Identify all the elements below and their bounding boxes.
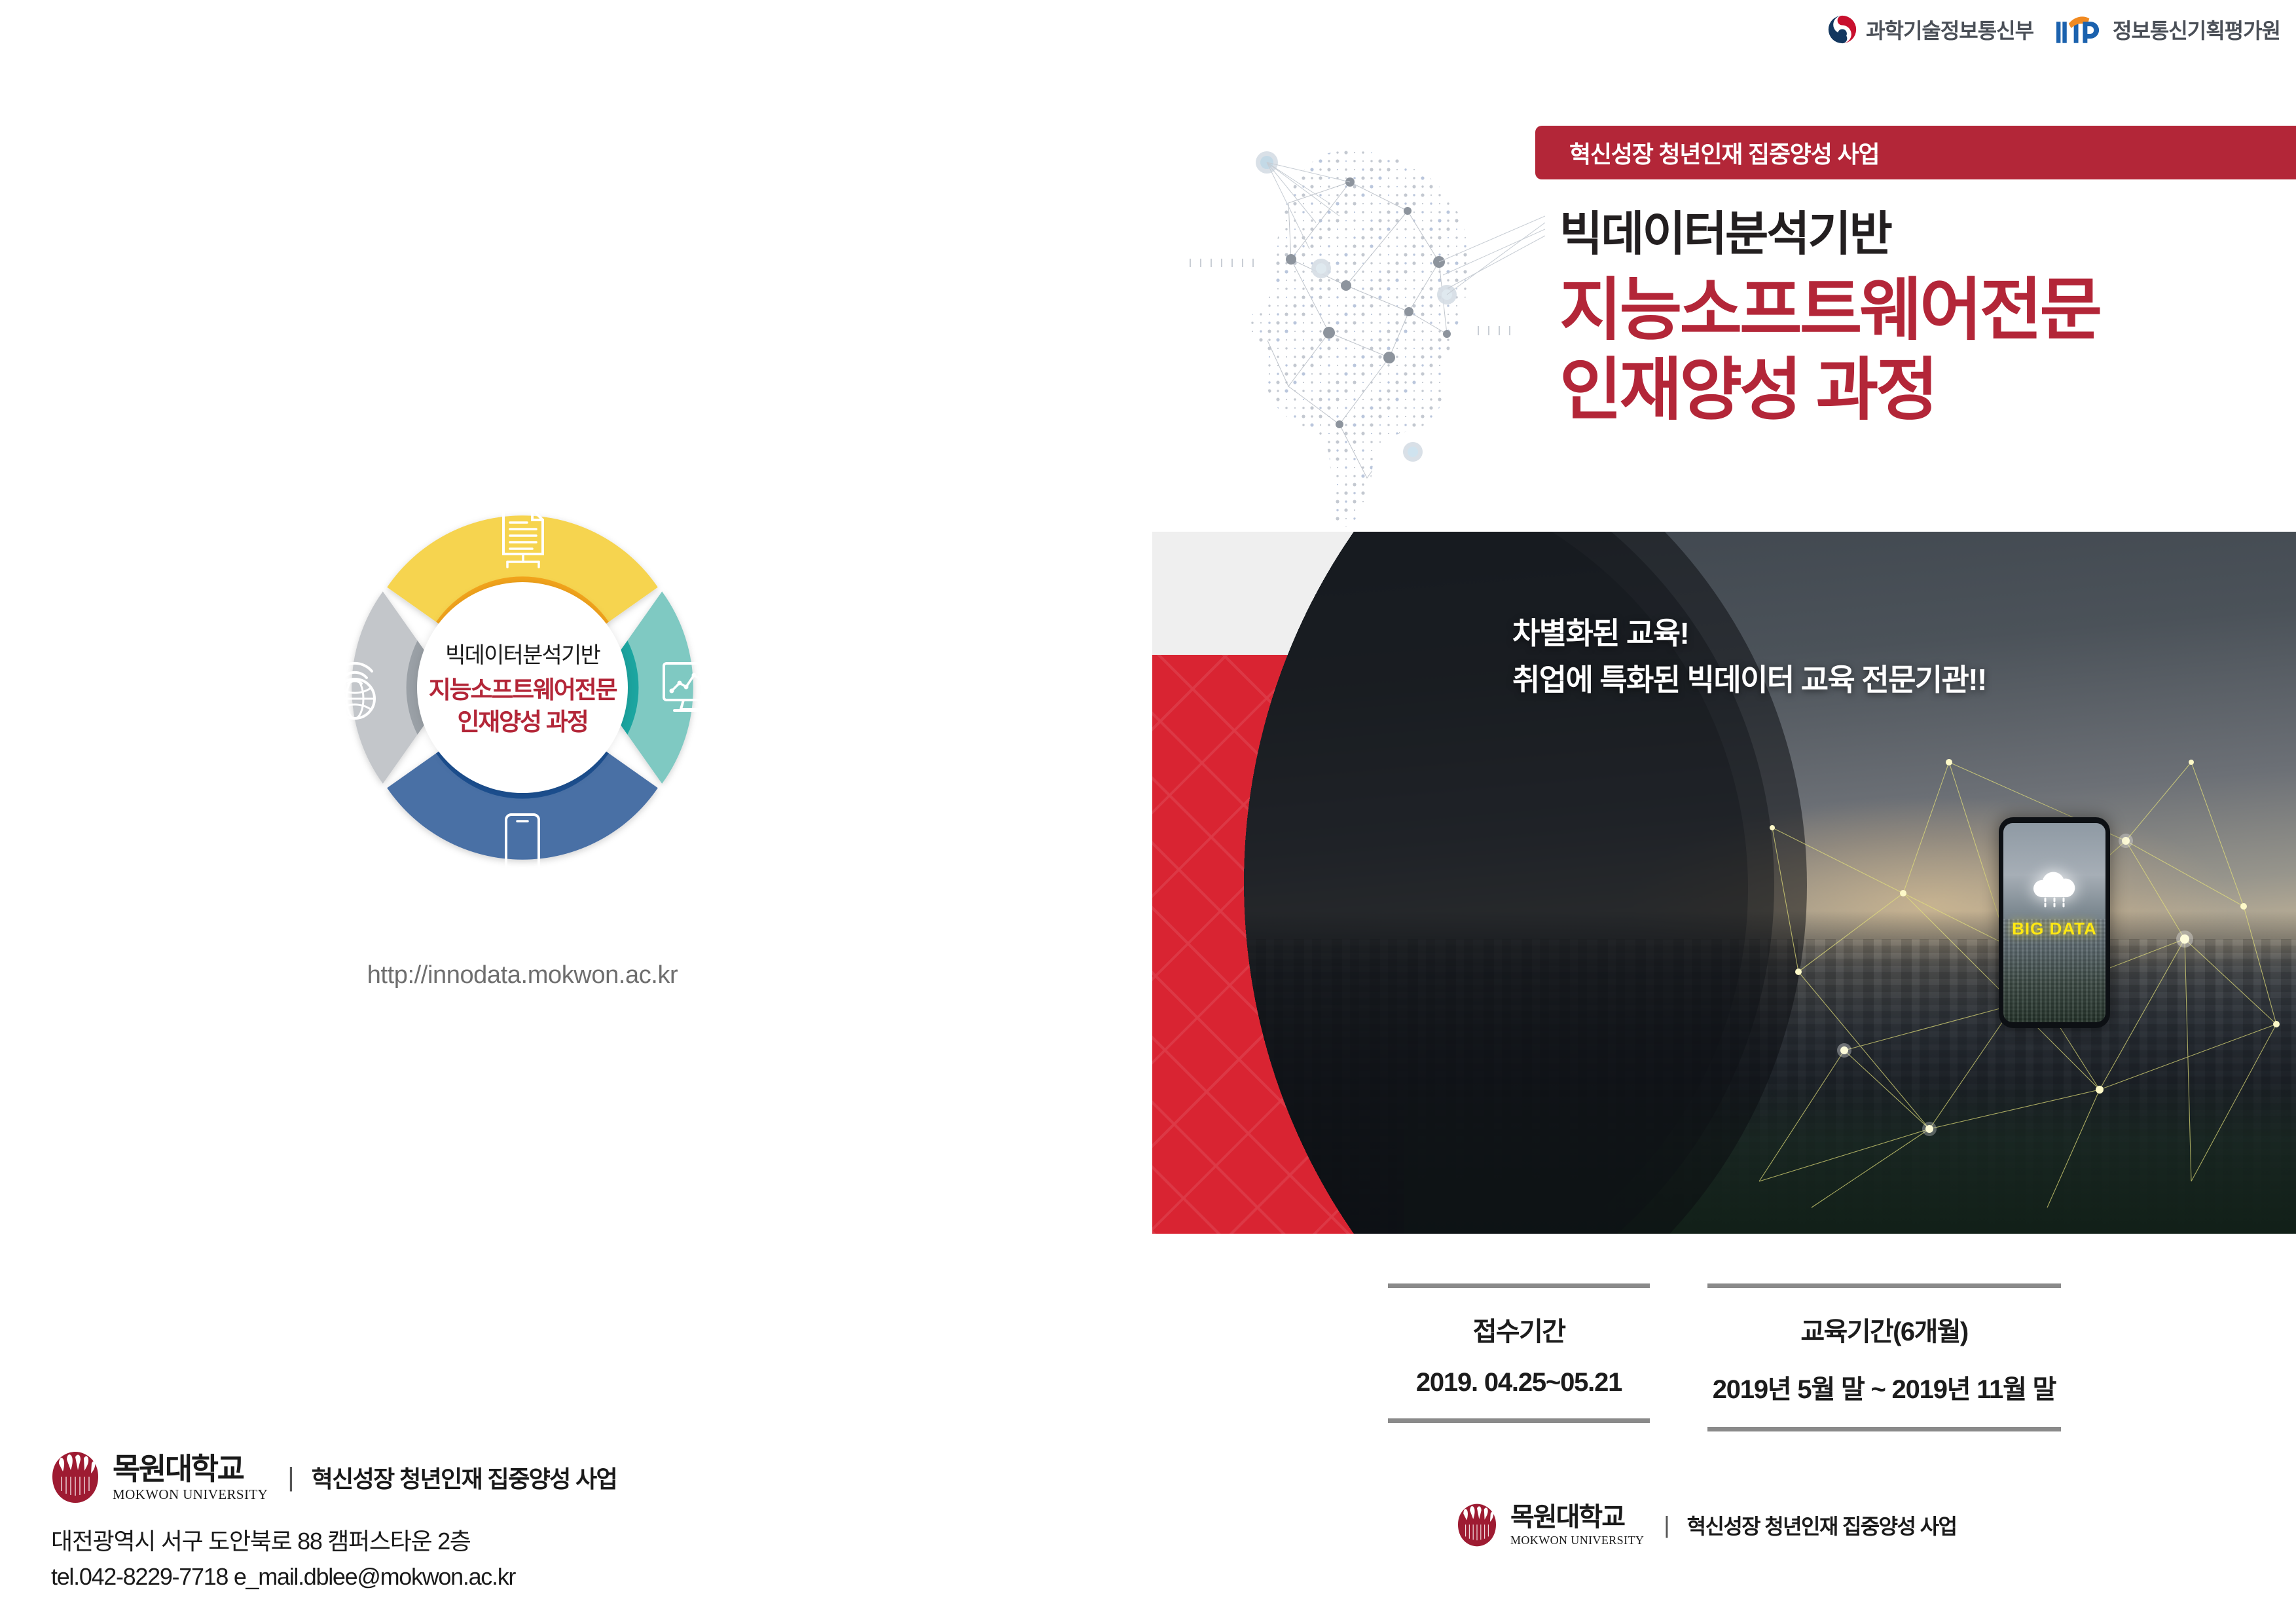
taegeuk-icon: [1827, 14, 1857, 45]
phone-mockup: BIG DATA: [1999, 817, 2110, 1028]
footer-left: 목원대학교 MOKWON UNIVERSITY | 혁신성장 청년인재 집중양성…: [51, 1450, 617, 1595]
training-period-value: 2019년 5월 말 ~ 2019년 11월 말: [1707, 1368, 2061, 1406]
mokwon-name-ko: 목원대학교: [1510, 1504, 1644, 1530]
mokwon-crest-icon: [51, 1450, 100, 1504]
donut-center-main-line-2: 인재양성 과정: [457, 709, 587, 735]
phone-screen: BIG DATA: [2003, 823, 2105, 1022]
contact-block: 대전광역시 서구 도안북로 88 캠퍼스타운 2층 tel.042-8229-7…: [51, 1524, 617, 1595]
photo-headline-line-2: 취업에 특화된 빅데이터 교육 전문기관!!: [1512, 657, 1986, 703]
title-line-3: 인재양성 과정: [1559, 350, 2293, 431]
donut-center-main-line-1: 지능소프트웨어전문: [429, 676, 617, 703]
photo-headline-line-1: 차별화된 교육!: [1512, 610, 1986, 657]
government-logos: 과학기술정보통신부 정보통신기획평가원: [1827, 14, 2280, 45]
rule-bottom: [1388, 1418, 1650, 1423]
donut-center-top-text: 빅데이터분석기반: [445, 637, 600, 669]
rule-top: [1388, 1283, 1650, 1288]
mokwon-brand-lockup: 목원대학교 MOKWON UNIVERSITY | 혁신성장 청년인재 집중양성…: [51, 1450, 617, 1504]
ministry-logo: 과학기술정보통신부: [1827, 14, 2033, 45]
photo-red-block: [1152, 655, 1650, 1234]
brand-divider: |: [287, 1463, 294, 1492]
photo-headline: 차별화된 교육! 취업에 특화된 빅데이터 교육 전문기관!!: [1512, 610, 1986, 704]
title-line-2: 지능소프트웨어전문: [1559, 270, 2293, 351]
iitp-logo-label: 정보통신기획평가원: [2113, 14, 2280, 45]
schedule-boxes: 접수기간 2019. 04.25~05.21 교육기간(6개월) 2019년 5…: [1388, 1283, 2108, 1431]
page-title: 빅데이터분석기반 지능소프트웨어전문 인재양성 과정: [1559, 208, 2293, 431]
program-banner-text: 혁신성장 청년인재 집중양성 사업: [1569, 136, 1879, 170]
program-donut-diagram: 빅데이터분석기반 지능소프트웨어전문 인재양성 과정: [287, 452, 758, 923]
title-line-1: 빅데이터분석기반: [1559, 208, 2293, 261]
mokwon-name-ko: 목원대학교: [113, 1454, 268, 1484]
hero-photo: 차별화된 교육! 취업에 특화된 빅데이터 교육 전문기관!!: [1152, 532, 2296, 1234]
training-period-box: 교육기간(6개월) 2019년 5월 말 ~ 2019년 11월 말: [1707, 1283, 2061, 1431]
program-website-url[interactable]: http://innodata.mokwon.ac.kr: [287, 961, 758, 989]
iitp-mark-icon: [2056, 15, 2104, 44]
application-period-box: 접수기간 2019. 04.25~05.21: [1388, 1283, 1650, 1431]
brand-divider: |: [1664, 1511, 1669, 1539]
rule-top: [1707, 1283, 2061, 1288]
iitp-logo: 정보통신기획평가원: [2056, 14, 2280, 45]
mokwon-names: 목원대학교 MOKWON UNIVERSITY: [1510, 1504, 1644, 1546]
head-network-graphic: [1178, 124, 1545, 530]
application-period-value: 2019. 04.25~05.21: [1388, 1368, 1650, 1397]
training-period-label: 교육기간(6개월): [1707, 1310, 2061, 1348]
application-period-label: 접수기간: [1388, 1310, 1650, 1348]
mokwon-name-en: MOKWON UNIVERSITY: [1510, 1534, 1644, 1546]
cloud-icon: [2027, 871, 2082, 908]
footer-right-subtitle: 혁신성장 청년인재 집중양성 사업: [1687, 1510, 1957, 1540]
rule-bottom: [1707, 1427, 2061, 1431]
program-banner: 혁신성장 청년인재 집중양성 사업: [1535, 126, 2296, 179]
ministry-logo-label: 과학기술정보통신부: [1866, 14, 2033, 45]
mokwon-name-en: MOKWON UNIVERSITY: [113, 1488, 268, 1502]
office-contact: tel.042-8229-7718 e_mail.dblee@mokwon.ac…: [51, 1559, 617, 1595]
mokwon-crest-icon: [1457, 1503, 1497, 1547]
mokwon-names: 목원대학교 MOKWON UNIVERSITY: [113, 1454, 268, 1502]
phone-bigdata-label: BIG DATA: [2003, 919, 2105, 939]
donut-center-label: 빅데이터분석기반 지능소프트웨어전문 인재양성 과정: [417, 582, 628, 793]
footer-right: 목원대학교 MOKWON UNIVERSITY | 혁신성장 청년인재 집중양성…: [1457, 1503, 1956, 1547]
mokwon-brand-lockup-right: 목원대학교 MOKWON UNIVERSITY | 혁신성장 청년인재 집중양성…: [1457, 1503, 1956, 1547]
office-address: 대전광역시 서구 도안북로 88 캠퍼스타운 2층: [51, 1524, 617, 1559]
footer-left-subtitle: 혁신성장 청년인재 집중양성 사업: [312, 1460, 617, 1494]
